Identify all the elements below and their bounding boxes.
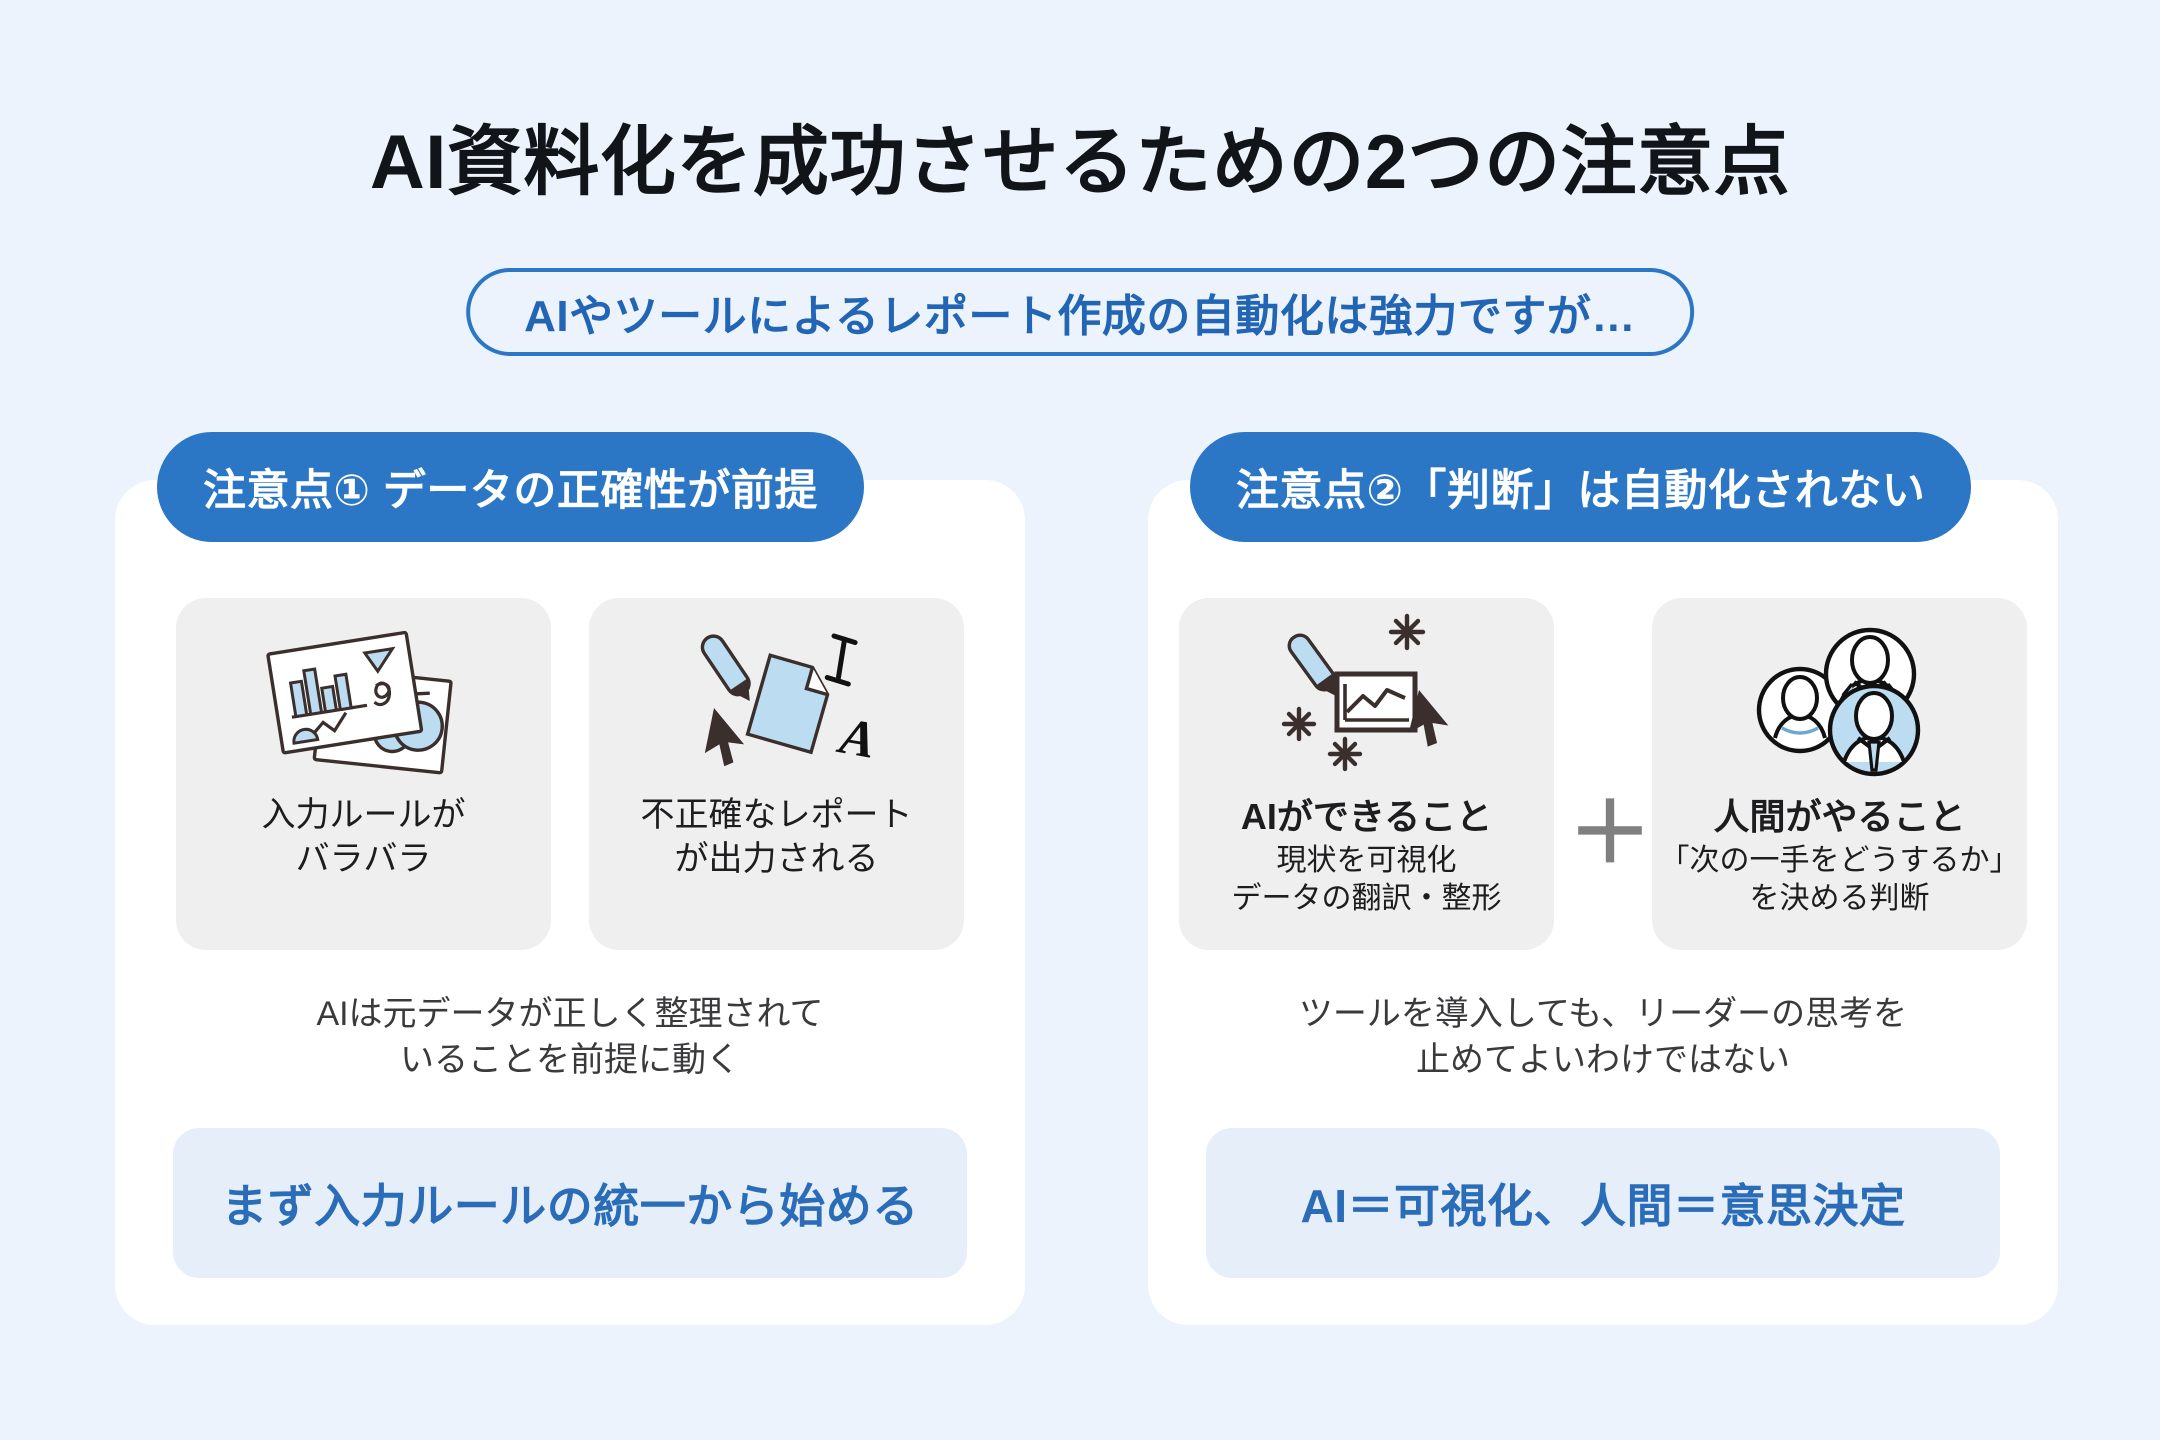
subtitle-pill: AIやツールによるレポート作成の自動化は強力ですが…	[466, 268, 1694, 356]
card-1-tiles: 入力ルールが バラバラ	[115, 598, 1025, 950]
card-2-footer-label: AI＝可視化、人間＝意思決定	[1301, 1170, 1906, 1236]
card-1-description: AIは元データが正しく整理されて いることを前提に動く	[155, 992, 985, 1084]
svg-text:A: A	[832, 707, 879, 770]
scattered-documents-icon	[176, 604, 551, 794]
tile-human-responsibilities: 人間がやること 「次の一手をどうするか」 を決める判断	[1652, 598, 2027, 950]
card-2-description: ツールを導入しても、リーダーの思考を 止めてよいわけではない	[1188, 992, 2018, 1084]
three-people-group-icon	[1652, 604, 2027, 794]
card-1-header: 注意点① データの正確性が前提	[157, 432, 864, 542]
plus-separator-icon: ＋	[1568, 791, 1638, 875]
tile-inaccurate-report: A 不正確なレポート が出力される	[589, 598, 964, 950]
infographic-canvas: AI資料化を成功させるための2つの注意点 AIやツールによるレポート作成の自動化…	[0, 0, 2160, 1440]
card-1-header-label: 注意点① データの正確性が前提	[203, 456, 818, 518]
card-caution-1: 注意点① データの正確性が前提	[115, 480, 1025, 1325]
tile-ai-capabilities-label: AIができること	[1241, 794, 1492, 840]
card-1-footer-banner: まず入力ルールの統一から始める	[173, 1128, 967, 1278]
tile-input-rules-label: 入力ルールが バラバラ	[262, 794, 466, 881]
card-2-tiles: AIができること 現状を可視化 データの翻訳・整形 ＋	[1148, 598, 2058, 950]
tile-human-responsibilities-label: 人間がやること	[1713, 794, 1965, 840]
card-2-footer-banner: AI＝可視化、人間＝意思決定	[1206, 1128, 2000, 1278]
tile-inaccurate-report-label: 不正確なレポート が出力される	[641, 794, 913, 881]
sparkle-chart-pencil-cursor-icon	[1179, 604, 1554, 794]
pencil-document-cursor-letter-icon: A	[589, 604, 964, 794]
tile-ai-capabilities: AIができること 現状を可視化 データの翻訳・整形	[1179, 598, 1554, 950]
subtitle-pill-label: AIやツールによるレポート作成の自動化は強力ですが…	[524, 280, 1636, 344]
tile-ai-capabilities-sub: 現状を可視化 データの翻訳・整形	[1232, 842, 1502, 917]
tile-input-rules-inconsistent: 入力ルールが バラバラ	[176, 598, 551, 950]
page-title: AI資料化を成功させるための2つの注意点	[0, 100, 2160, 210]
card-caution-2: 注意点②「判断」は自動化されない	[1148, 480, 2058, 1325]
card-2-header-label: 注意点②「判断」は自動化されない	[1236, 456, 1925, 518]
card-2-header: 注意点②「判断」は自動化されない	[1190, 432, 1971, 542]
card-1-footer-label: まず入力ルールの統一から始める	[221, 1170, 919, 1236]
tile-human-responsibilities-sub: 「次の一手をどうするか」 を決める判断	[1660, 842, 2020, 917]
